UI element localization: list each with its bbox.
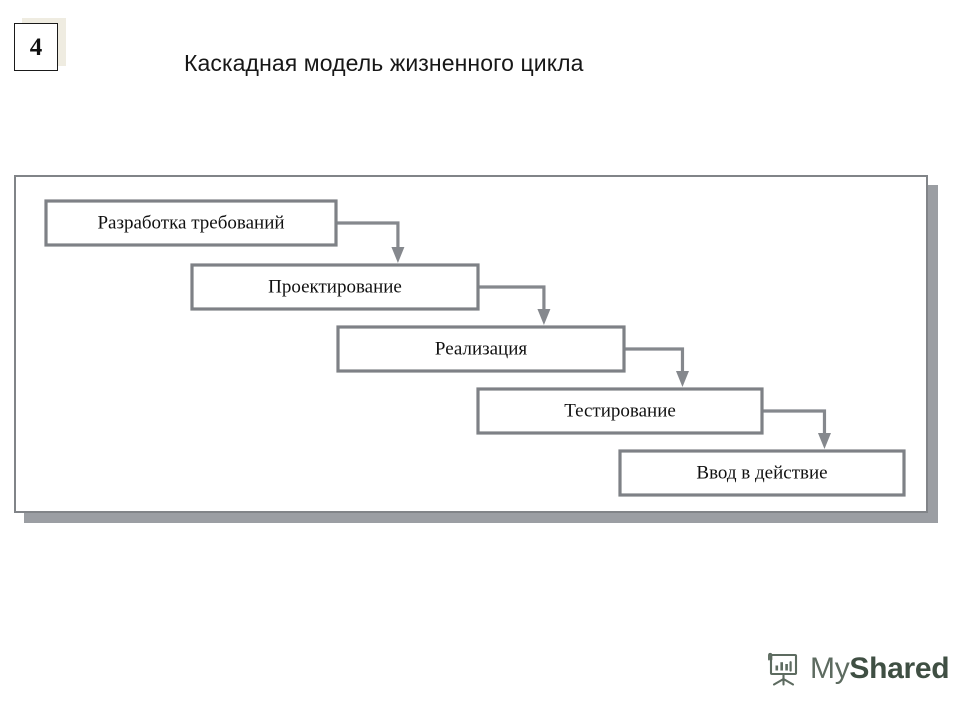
stage-box[interactable]: Проектирование — [192, 265, 478, 309]
watermark-text-light: My — [810, 652, 849, 685]
stage-box[interactable]: Ввод в действие — [620, 451, 904, 495]
stage-boxes-layer: Разработка требованийПроектированиеРеали… — [46, 201, 904, 495]
slide-number-badge: 4 — [14, 18, 62, 70]
stage-1-label: Разработка требований — [97, 212, 284, 233]
diagram-frame: Разработка требованийПроектированиеРеали… — [14, 175, 928, 513]
connector-4-5 — [762, 411, 831, 449]
page-title: Каскадная модель жизненного цикла — [184, 50, 804, 77]
slide-number-value: 4 — [14, 23, 58, 71]
waterfall-diagram: Разработка требованийПроектированиеРеали… — [16, 177, 926, 511]
watermark-text-bold: Shared — [849, 652, 949, 685]
myshared-watermark: MyShared — [765, 650, 949, 688]
presentation-chart-icon — [765, 650, 801, 688]
stage-5-label: Ввод в действие — [696, 462, 827, 483]
watermark-label: MyShared — [810, 654, 949, 684]
connector-2-3 — [478, 287, 550, 325]
stage-box[interactable]: Реализация — [338, 327, 624, 371]
stage-2-label: Проектирование — [268, 276, 402, 297]
stage-4-label: Тестирование — [564, 400, 676, 421]
stage-box[interactable]: Тестирование — [478, 389, 762, 433]
connector-1-2 — [336, 223, 404, 263]
stage-3-label: Реализация — [435, 338, 528, 359]
stage-box[interactable]: Разработка требований — [46, 201, 336, 245]
connector-3-4 — [624, 349, 689, 387]
